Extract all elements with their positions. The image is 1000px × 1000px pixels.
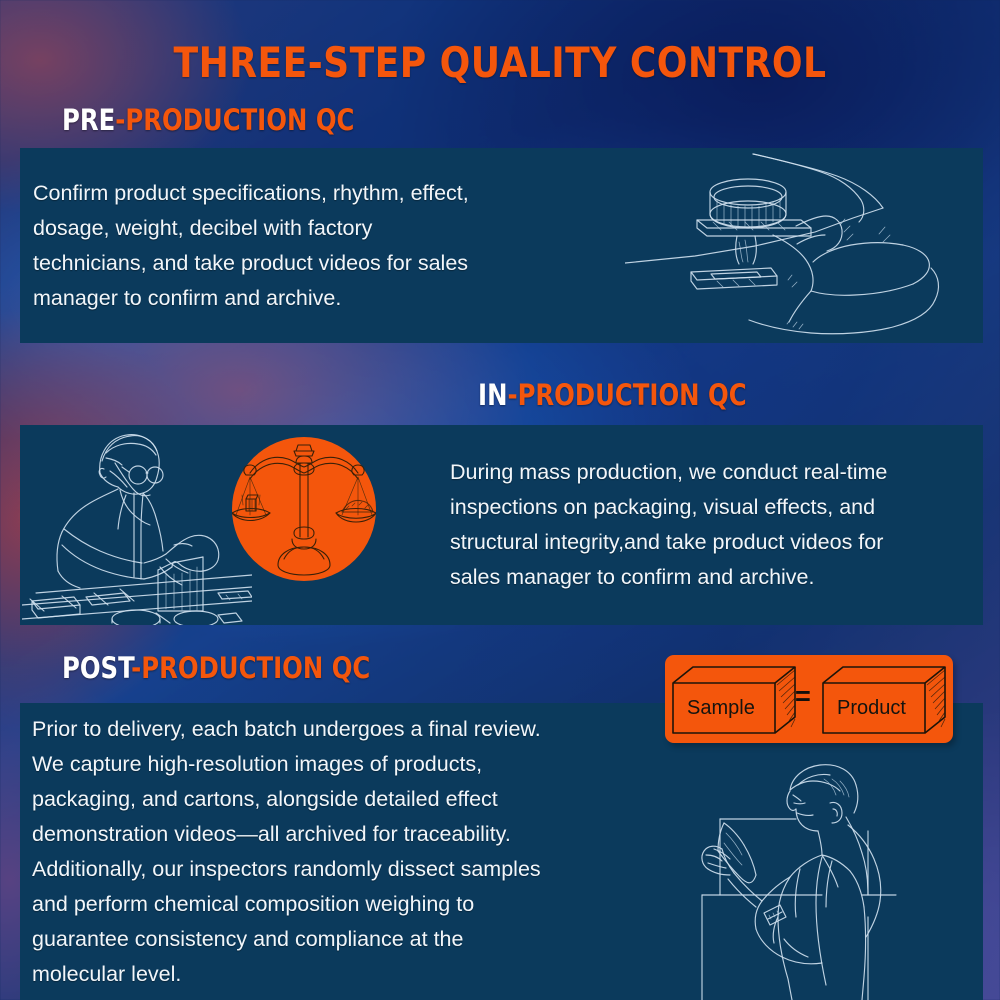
body-text-pre-production: Confirm product specifications, rhythm, … — [33, 176, 593, 316]
sample-box-label: Sample — [687, 697, 755, 720]
heading-pre-production: PRE-PRODUCTION QC — [62, 103, 354, 137]
body-text-post-production: Prior to delivery, each batch undergoes … — [32, 712, 662, 992]
heading-post-production: POST-PRODUCTION QC — [62, 651, 370, 685]
body-text-in-production: During mass production, we conduct real-… — [450, 455, 990, 595]
heading-in-production-orange: -PRODUCTION QC — [507, 378, 746, 412]
balance-scale-badge — [232, 437, 376, 581]
sample-equals-product-badge: Sample = Product — [665, 655, 953, 743]
heading-post-production-orange: -PRODUCTION QC — [131, 651, 370, 685]
heading-pre-production-orange: -PRODUCTION QC — [115, 103, 354, 137]
equals-sign: = — [795, 681, 811, 712]
heading-pre-production-white: PRE — [62, 103, 115, 137]
page-title: THREE-STEP QUALITY CONTROL — [70, 38, 930, 87]
heading-in-production: IN-PRODUCTION QC — [478, 378, 747, 412]
product-box-label: Product — [837, 697, 906, 720]
balance-scale-icon — [232, 437, 376, 581]
heading-in-production-white: IN — [478, 378, 507, 412]
heading-post-production-white: POST — [62, 651, 131, 685]
